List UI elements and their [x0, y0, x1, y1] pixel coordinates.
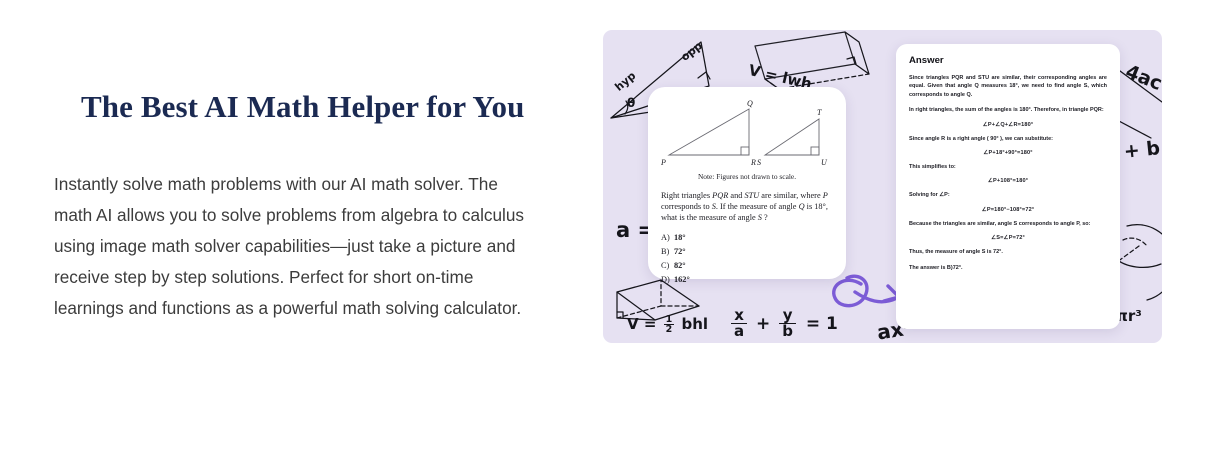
- answer-choice[interactable]: A)18°: [661, 231, 833, 245]
- doodle-volume-prism-tail: bhl: [682, 315, 709, 333]
- stem-pqr: PQR: [712, 191, 728, 200]
- doodle-frac2-den: b: [779, 324, 796, 339]
- label-q: Q: [747, 99, 753, 108]
- answer-card: Answer Since triangles PQR and STU are s…: [896, 44, 1120, 329]
- choice-value: 72°: [674, 247, 686, 256]
- answer-choice[interactable]: C)82°: [661, 259, 833, 273]
- hero-text-column: The Best AI Math Helper for You Instantl…: [54, 88, 554, 324]
- similar-triangles-figure: P Q R S T U: [661, 97, 833, 171]
- stem-seg-2: are similar, where: [759, 191, 822, 200]
- doodle-theta: θ: [627, 96, 635, 110]
- doodle-half-denominator: 2: [664, 325, 675, 334]
- question-stem: Right triangles PQR and STU are similar,…: [661, 190, 833, 224]
- answer-title: Answer: [909, 55, 1107, 66]
- triangle-pqr: [669, 109, 749, 155]
- choice-letter: C): [661, 259, 674, 273]
- choice-value: 162°: [674, 275, 690, 284]
- answer-paragraph: Because the triangles are similar, angle…: [909, 220, 1107, 228]
- answer-equation: ∠P=180°−108°=72°: [909, 207, 1107, 213]
- stem-seg-1: Right triangles: [661, 191, 712, 200]
- doodle-volume-prism-lead: V =: [627, 315, 656, 333]
- answer-choice[interactable]: B)72°: [661, 245, 833, 259]
- doodle-plus-sign: +: [756, 314, 770, 334]
- answer-paragraph: In right triangles, the sum of the angle…: [909, 106, 1107, 114]
- answer-paragraph: This simplifies to:: [909, 163, 1107, 171]
- doodle-line-equation: x a + y b = 1: [731, 308, 838, 339]
- right-angle-marker-u: [811, 147, 819, 155]
- hero-description: Instantly solve math problems with our A…: [54, 169, 540, 324]
- stem-seg-4: . If the measure of angle: [716, 202, 799, 211]
- stem-seg-and: and: [728, 191, 744, 200]
- doodle-hyp: hyp: [612, 69, 638, 94]
- answer-choice-list: A)18° B)72° C)82° D)162°: [661, 231, 833, 288]
- doodle-line-eq-rhs: = 1: [806, 314, 838, 334]
- choice-value: 18°: [674, 233, 686, 242]
- label-r: R: [750, 158, 756, 167]
- answer-choice[interactable]: D)162°: [661, 273, 833, 287]
- box-3d-doodle: [755, 32, 855, 79]
- right-angle-marker-r: [741, 147, 749, 155]
- stem-stu: STU: [744, 191, 759, 200]
- choice-letter: D): [661, 273, 674, 287]
- purple-arrow-doodle: [834, 276, 899, 305]
- answer-paragraph: The answer is B)72°.: [909, 264, 1107, 272]
- doodle-frac1-den: a: [731, 324, 747, 339]
- stem-p: P: [823, 191, 828, 200]
- label-s: S: [757, 158, 761, 167]
- answer-equation: ∠P+18°+90°=180°: [909, 150, 1107, 156]
- choice-letter: A): [661, 231, 674, 245]
- answer-paragraph: Since angle R is a right angle ( 90° ), …: [909, 135, 1107, 143]
- doodle-volume-prism: V = 1 2 bhl: [627, 315, 708, 334]
- answer-body: Since triangles PQR and STU are similar,…: [909, 74, 1107, 272]
- stem-seg-3: corresponds to: [661, 202, 712, 211]
- answer-paragraph: Solving for ∠P:: [909, 191, 1107, 199]
- label-p: P: [661, 158, 666, 167]
- doodle-frac1-num: x: [731, 308, 747, 324]
- answer-paragraph: Since triangles PQR and STU are similar,…: [909, 74, 1107, 99]
- answer-paragraph: Thus, the measure of angle S is 72°.: [909, 248, 1107, 256]
- doodle-opp: opp: [678, 39, 704, 64]
- sphere-doodle: [1127, 225, 1162, 300]
- doodle-half-numerator: 1: [664, 315, 675, 325]
- question-card: P Q R S T U Note: Figures not drawn to s…: [648, 87, 846, 279]
- answer-equation: ∠S=∠P=72°: [909, 235, 1107, 241]
- answer-equation: ∠P+108°=180°: [909, 178, 1107, 184]
- answer-equation: ∠P+∠Q+∠R=180°: [909, 122, 1107, 128]
- doodle-frac2-num: y: [779, 308, 796, 324]
- choice-value: 82°: [674, 261, 686, 270]
- stem-seg-6: ?: [762, 213, 768, 222]
- page-title: The Best AI Math Helper for You: [54, 88, 554, 125]
- figure-note: Note: Figures not drawn to scale.: [661, 172, 833, 181]
- label-t: T: [817, 108, 822, 117]
- label-u: U: [821, 158, 828, 167]
- choice-letter: B): [661, 245, 674, 259]
